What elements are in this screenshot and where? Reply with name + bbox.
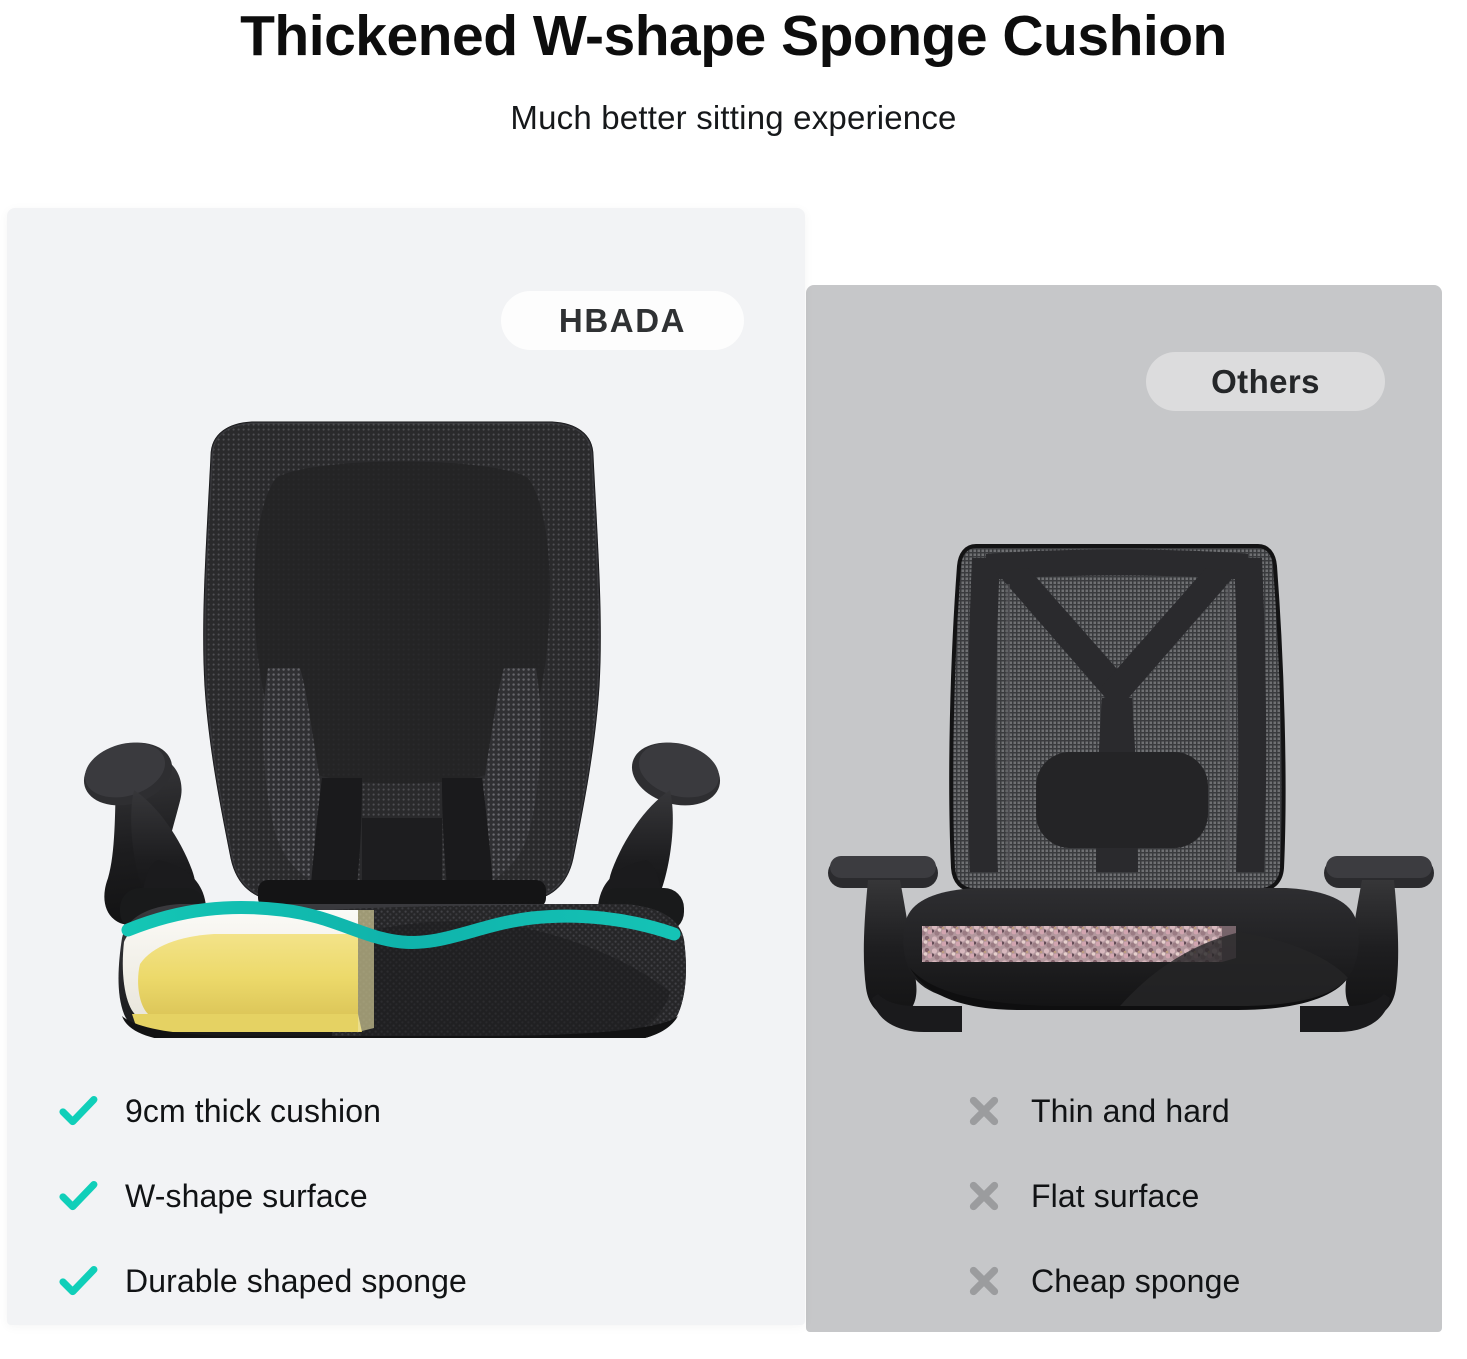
page-header: Thickened W-shape Sponge Cushion Much be… (0, 0, 1467, 138)
feature-label: Durable shaped sponge (104, 1262, 467, 1300)
feature-label: W-shape surface (104, 1177, 368, 1215)
cross-icon (958, 1170, 1010, 1222)
page-title: Thickened W-shape Sponge Cushion (0, 0, 1467, 70)
check-icon (52, 1085, 104, 1137)
check-icon (52, 1170, 104, 1222)
feature-label: Thin and hard (1010, 1092, 1230, 1130)
list-item: Thin and hard (958, 1068, 1398, 1153)
cross-icon (958, 1255, 1010, 1307)
list-item: Flat surface (958, 1153, 1398, 1238)
list-item: W-shape surface (52, 1153, 692, 1238)
hbada-chair-image (62, 418, 742, 1038)
others-seat-cushion (903, 888, 1358, 1010)
others-backrest (950, 542, 1290, 894)
check-icon (52, 1255, 104, 1307)
others-chair-image (820, 528, 1442, 1048)
hbada-left-armrest (76, 733, 206, 932)
feature-label: Flat surface (1010, 1177, 1199, 1215)
list-item: Cheap sponge (958, 1238, 1398, 1323)
cross-icon (958, 1085, 1010, 1137)
list-item: Durable shaped sponge (52, 1238, 692, 1323)
hbada-seat-cushion (119, 904, 687, 1038)
hbada-right-armrest (598, 733, 728, 932)
hbada-seat-connector (258, 880, 546, 908)
others-feature-list: Thin and hard Flat surface Cheap sponge (958, 1068, 1398, 1323)
page-subtitle: Much better sitting experience (0, 70, 1467, 138)
badge-others: Others (1146, 352, 1385, 411)
feature-label: 9cm thick cushion (104, 1092, 381, 1130)
feature-label: Cheap sponge (1010, 1262, 1240, 1300)
badge-hbada: HBADA (501, 291, 744, 350)
hbada-backrest (202, 418, 602, 908)
list-item: 9cm thick cushion (52, 1068, 692, 1153)
hbada-feature-list: 9cm thick cushion W-shape surface Durabl… (52, 1068, 692, 1323)
